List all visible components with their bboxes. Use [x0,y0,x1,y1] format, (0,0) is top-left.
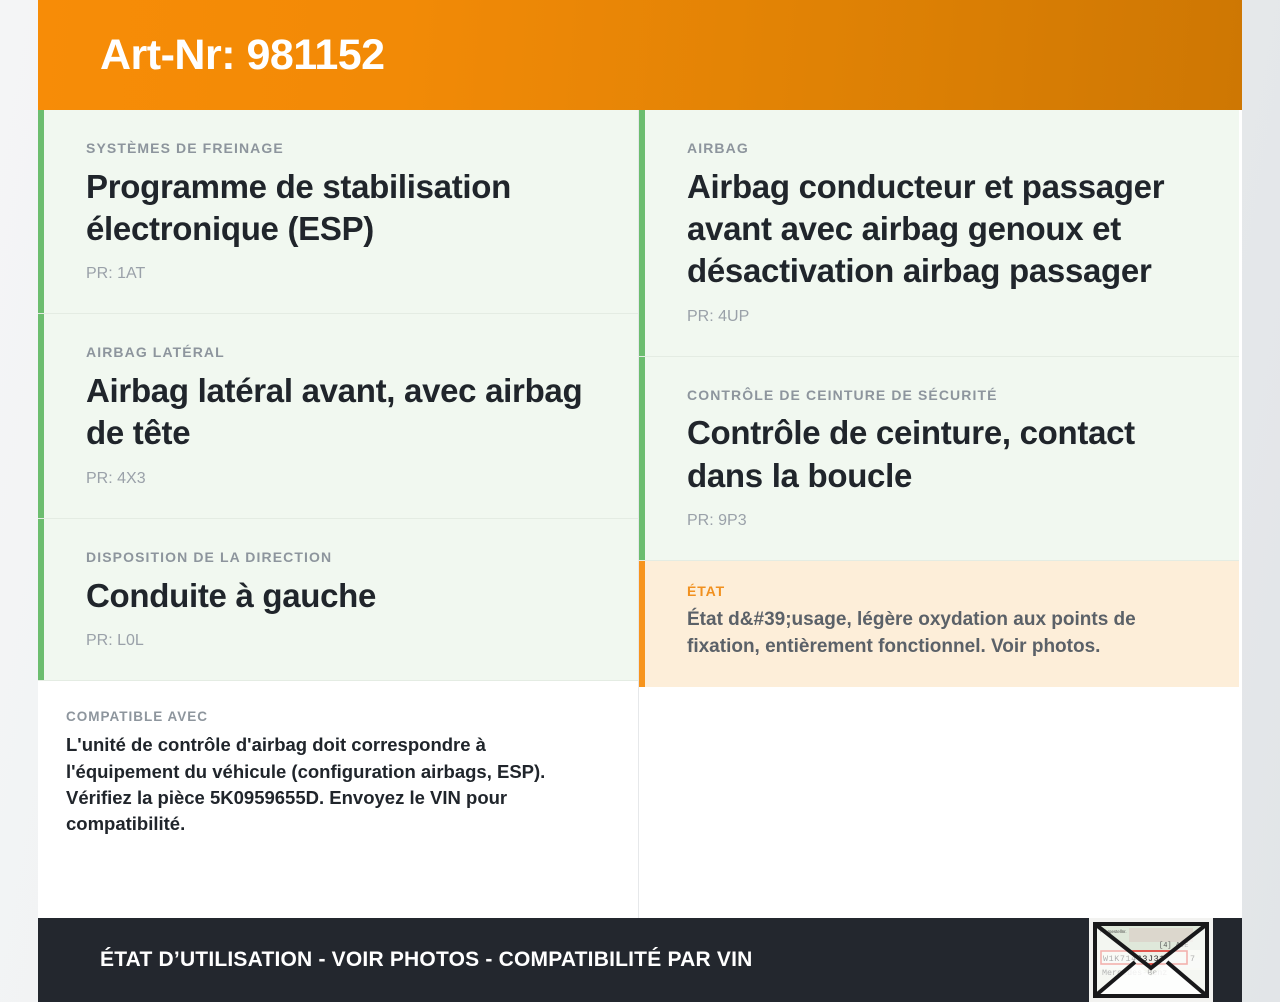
page-title: Art-Nr: 981152 [100,34,385,77]
spec-label: CONTRÔLE DE CEINTURE DE SÉCURITÉ [687,387,1191,404]
envelope-vin-document-icon: Fahrgestellnr. [4] AJE W1K71463J31 7 Mer… [1089,918,1213,1002]
spec-card-seatbelt: CONTRÔLE DE CEINTURE DE SÉCURITÉ Contrôl… [639,357,1239,561]
footer-bar: ÉTAT D’UTILISATION - VOIR PHOTOS - COMPA… [38,918,1242,1002]
spec-value: Programme de stabilisation électronique … [86,166,590,250]
spec-card-braking: SYSTÈMES DE FREINAGE Programme de stabil… [38,110,638,314]
compatibility-label: COMPATIBLE AVEC [66,709,590,725]
spec-card-side-airbag: AIRBAG LATÉRAL Airbag latéral avant, ave… [38,314,638,518]
listing-sheet: Art-Nr: 981152 SYSTÈMES DE FREINAGE Prog… [38,0,1242,1002]
spec-pr-code: PR: 4X3 [86,469,590,488]
spec-label: AIRBAG LATÉRAL [86,344,590,361]
spec-value: Conduite à gauche [86,575,590,617]
spec-label: AIRBAG [687,140,1191,157]
compatibility-card: COMPATIBLE AVEC L'unité de contrôle d'ai… [38,681,638,863]
condition-label: ÉTAT [687,583,1191,600]
spec-pr-code: PR: L0L [86,631,590,650]
spec-value: Contrôle de ceinture, contact dans la bo… [687,412,1191,496]
spec-label: SYSTÈMES DE FREINAGE [86,140,590,157]
right-column-spacer [639,687,1239,918]
spec-value: Airbag conducteur et passager avant avec… [687,166,1191,293]
spec-label: DISPOSITION DE LA DIRECTION [86,549,590,566]
spec-card-airbag: AIRBAG Airbag conducteur et passager ava… [639,110,1239,357]
right-column: AIRBAG Airbag conducteur et passager ava… [638,110,1239,918]
compatibility-text: L'unité de contrôle d'airbag doit corres… [66,732,590,837]
spec-pr-code: PR: 9P3 [687,511,1191,530]
footer-note: ÉTAT D’UTILISATION - VOIR PHOTOS - COMPA… [100,948,752,972]
left-column-spacer [38,863,638,918]
spec-value: Airbag latéral avant, avec airbag de têt… [86,370,590,454]
spec-pr-code: PR: 1AT [86,264,590,283]
header-bar: Art-Nr: 981152 [38,0,1242,110]
left-column: SYSTÈMES DE FREINAGE Programme de stabil… [38,110,638,918]
condition-card: ÉTAT État d&#39;usage, légère oxydation … [639,561,1239,687]
content-area: SYSTÈMES DE FREINAGE Programme de stabil… [38,110,1242,918]
spec-pr-code: PR: 4UP [687,307,1191,326]
condition-text: État d&#39;usage, légère oxydation aux p… [687,607,1191,661]
spec-card-steering: DISPOSITION DE LA DIRECTION Conduite à g… [38,519,638,681]
